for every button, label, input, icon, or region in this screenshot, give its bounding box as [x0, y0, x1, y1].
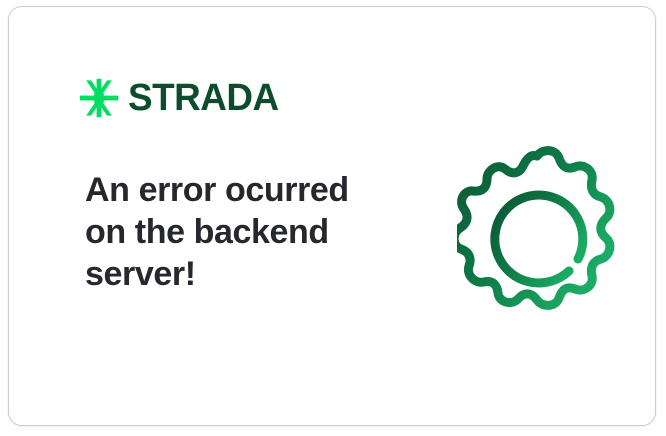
screen-root: STRADA An error ocurred on the backend s… — [0, 0, 666, 436]
brand-wordmark: STRADA — [128, 79, 279, 117]
error-headline-line-1: An error ocurred — [85, 171, 349, 209]
gear-illustration — [457, 143, 617, 311]
error-headline-line-3: server! — [85, 255, 196, 293]
error-card: STRADA An error ocurred on the backend s… — [8, 6, 656, 426]
error-headline-line-2: on the backend — [85, 213, 329, 251]
brand-lockup: STRADA — [79, 75, 283, 121]
error-headline: An error ocurred on the backend server! — [85, 169, 385, 295]
strada-starburst-mark-icon — [79, 78, 119, 118]
gear-cog-icon — [457, 143, 617, 311]
